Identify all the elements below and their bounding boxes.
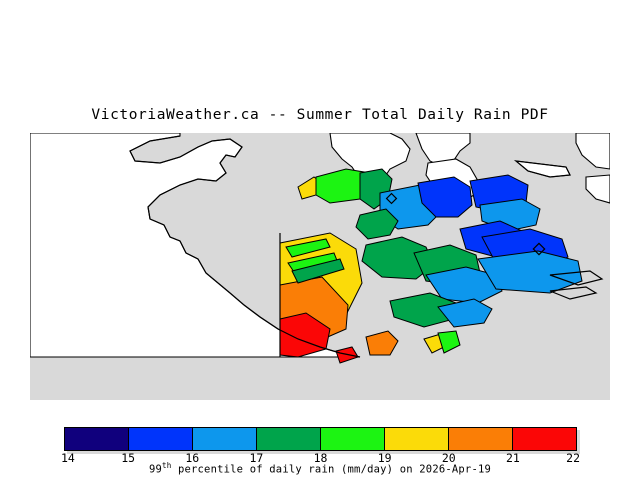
colorbar-segment-14-15[interactable]: [65, 428, 129, 450]
colorbar-caption: 99th percentile of daily rain (mm/day) o…: [0, 461, 640, 476]
rainfall-choropleth-map[interactable]: [30, 133, 610, 400]
colorbar-segment-18-19[interactable]: [321, 428, 385, 450]
colorbar-segment-17-18[interactable]: [257, 428, 321, 450]
map-panel[interactable]: [30, 133, 610, 400]
caption-rest: percentile of daily rain (mm/day) on 202…: [171, 464, 491, 476]
caption-prefix: 99: [149, 464, 162, 476]
colorbar-segment-21-22[interactable]: [513, 428, 576, 450]
colorbar-segment-15-16[interactable]: [129, 428, 193, 450]
page-title: VictoriaWeather.ca -- Summer Total Daily…: [0, 107, 640, 123]
colorbar-segment-20-21[interactable]: [449, 428, 513, 450]
colorbar-segment-19-20[interactable]: [385, 428, 449, 450]
colorbar[interactable]: [64, 427, 577, 451]
colorbar-segments[interactable]: [64, 427, 577, 451]
colorbar-segment-16-17[interactable]: [193, 428, 257, 450]
